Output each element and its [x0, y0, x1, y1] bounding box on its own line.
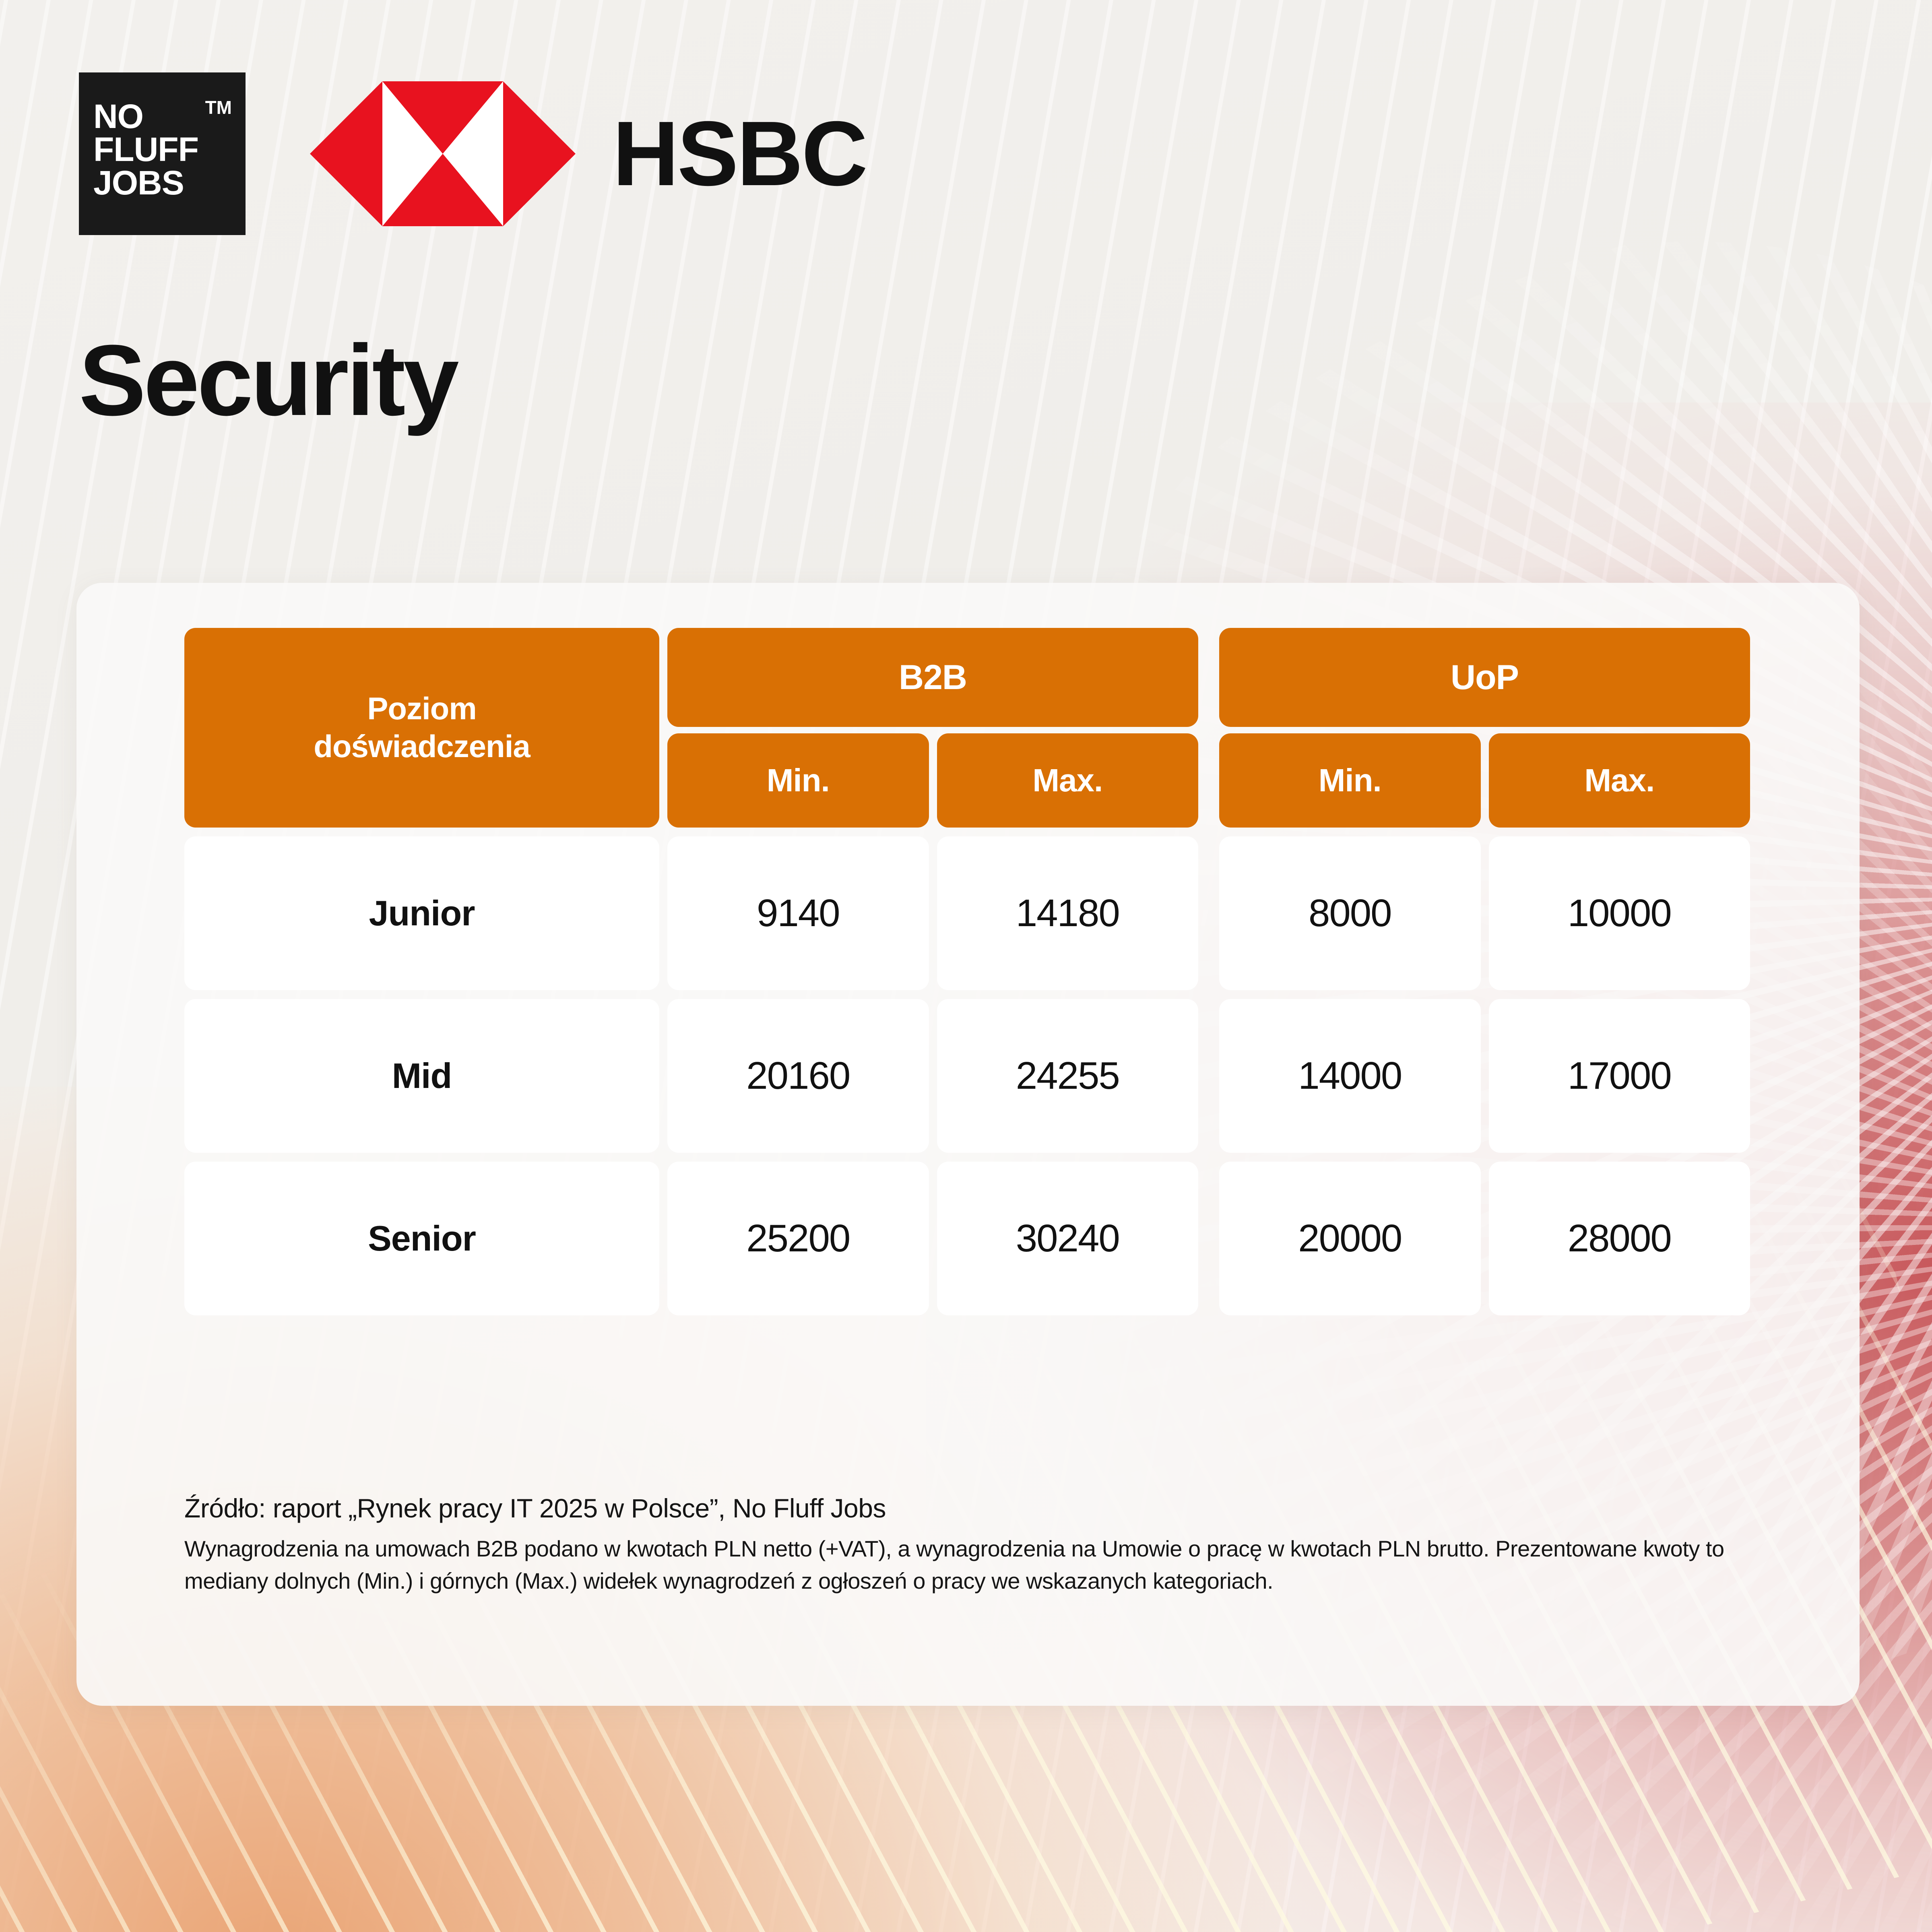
row-values-junior-b2b: 9140 14180: [667, 836, 1198, 990]
contract-groups-header: B2B Min. Max. UoP Min. Max.: [667, 628, 1750, 828]
cell-junior-uop-min: 8000: [1219, 836, 1481, 990]
footnote-body: Wynagrodzenia na umowach B2B podano w kw…: [184, 1533, 1746, 1597]
group-b2b: B2B Min. Max.: [667, 628, 1198, 828]
group-subheaders-uop: Min. Max.: [1219, 733, 1750, 828]
subheader-b2b-max: Max.: [937, 733, 1199, 828]
nfj-word-no: NO: [93, 100, 198, 133]
table-row: Senior 25200 30240 20000 28000: [184, 1162, 1750, 1315]
salary-card: Poziom doświadczenia B2B Min. Max. UoP M…: [76, 583, 1860, 1706]
row-values-senior: 25200 30240 20000 28000: [667, 1162, 1750, 1315]
hsbc-wordmark: HSBC: [613, 108, 866, 200]
column-header-experience-level: Poziom doświadczenia: [184, 628, 659, 828]
cell-level-senior: Senior: [184, 1162, 659, 1315]
table-row: Junior 9140 14180 8000 10000: [184, 836, 1750, 990]
no-fluff-jobs-wordmark: NO FLUFF JOBS: [93, 100, 198, 199]
cell-mid-uop-max: 17000: [1489, 999, 1750, 1153]
cell-mid-uop-min: 14000: [1219, 999, 1481, 1153]
no-fluff-jobs-logo: TM NO FLUFF JOBS: [79, 72, 246, 235]
hsbc-hexagon-icon: [310, 81, 576, 226]
cell-level-mid: Mid: [184, 999, 659, 1153]
row-values-mid-uop: 14000 17000: [1219, 999, 1750, 1153]
cell-junior-b2b-max: 14180: [937, 836, 1199, 990]
page-title: Security: [79, 330, 457, 431]
row-values-mid-b2b: 20160 24255: [667, 999, 1198, 1153]
group-header-b2b: B2B: [667, 628, 1198, 727]
row-values-senior-b2b: 25200 30240: [667, 1162, 1198, 1315]
subheader-b2b-min: Min.: [667, 733, 929, 828]
group-uop: UoP Min. Max.: [1219, 628, 1750, 828]
cell-junior-uop-max: 10000: [1489, 836, 1750, 990]
row-values-junior-uop: 8000 10000: [1219, 836, 1750, 990]
nfj-word-jobs: JOBS: [93, 166, 198, 199]
table-row: Mid 20160 24255 14000 17000: [184, 999, 1750, 1153]
cell-mid-b2b-min: 20160: [667, 999, 929, 1153]
group-subheaders-b2b: Min. Max.: [667, 733, 1198, 828]
header-logos: TM NO FLUFF JOBS HSBC: [79, 72, 866, 235]
row-values-junior: 9140 14180 8000 10000: [667, 836, 1750, 990]
salary-table: Poziom doświadczenia B2B Min. Max. UoP M…: [184, 628, 1750, 1315]
hsbc-logo: HSBC: [310, 81, 866, 226]
experience-level-line2: doświadczenia: [314, 728, 530, 766]
table-header: Poziom doświadczenia B2B Min. Max. UoP M…: [184, 628, 1750, 828]
footnote: Źródło: raport „Rynek pracy IT 2025 w Po…: [184, 1490, 1754, 1597]
experience-level-line1: Poziom: [367, 690, 476, 728]
subheader-uop-min: Min.: [1219, 733, 1481, 828]
nfj-word-fluff: FLUFF: [93, 133, 198, 166]
row-values-senior-uop: 20000 28000: [1219, 1162, 1750, 1315]
footnote-source: Źródło: raport „Rynek pracy IT 2025 w Po…: [184, 1490, 1754, 1526]
group-header-uop: UoP: [1219, 628, 1750, 727]
cell-senior-b2b-max: 30240: [937, 1162, 1199, 1315]
cell-senior-uop-min: 20000: [1219, 1162, 1481, 1315]
cell-senior-b2b-min: 25200: [667, 1162, 929, 1315]
trademark-symbol: TM: [205, 97, 232, 118]
subheader-uop-max: Max.: [1489, 733, 1750, 828]
cell-junior-b2b-min: 9140: [667, 836, 929, 990]
cell-mid-b2b-max: 24255: [937, 999, 1199, 1153]
cell-level-junior: Junior: [184, 836, 659, 990]
row-values-mid: 20160 24255 14000 17000: [667, 999, 1750, 1153]
cell-senior-uop-max: 28000: [1489, 1162, 1750, 1315]
